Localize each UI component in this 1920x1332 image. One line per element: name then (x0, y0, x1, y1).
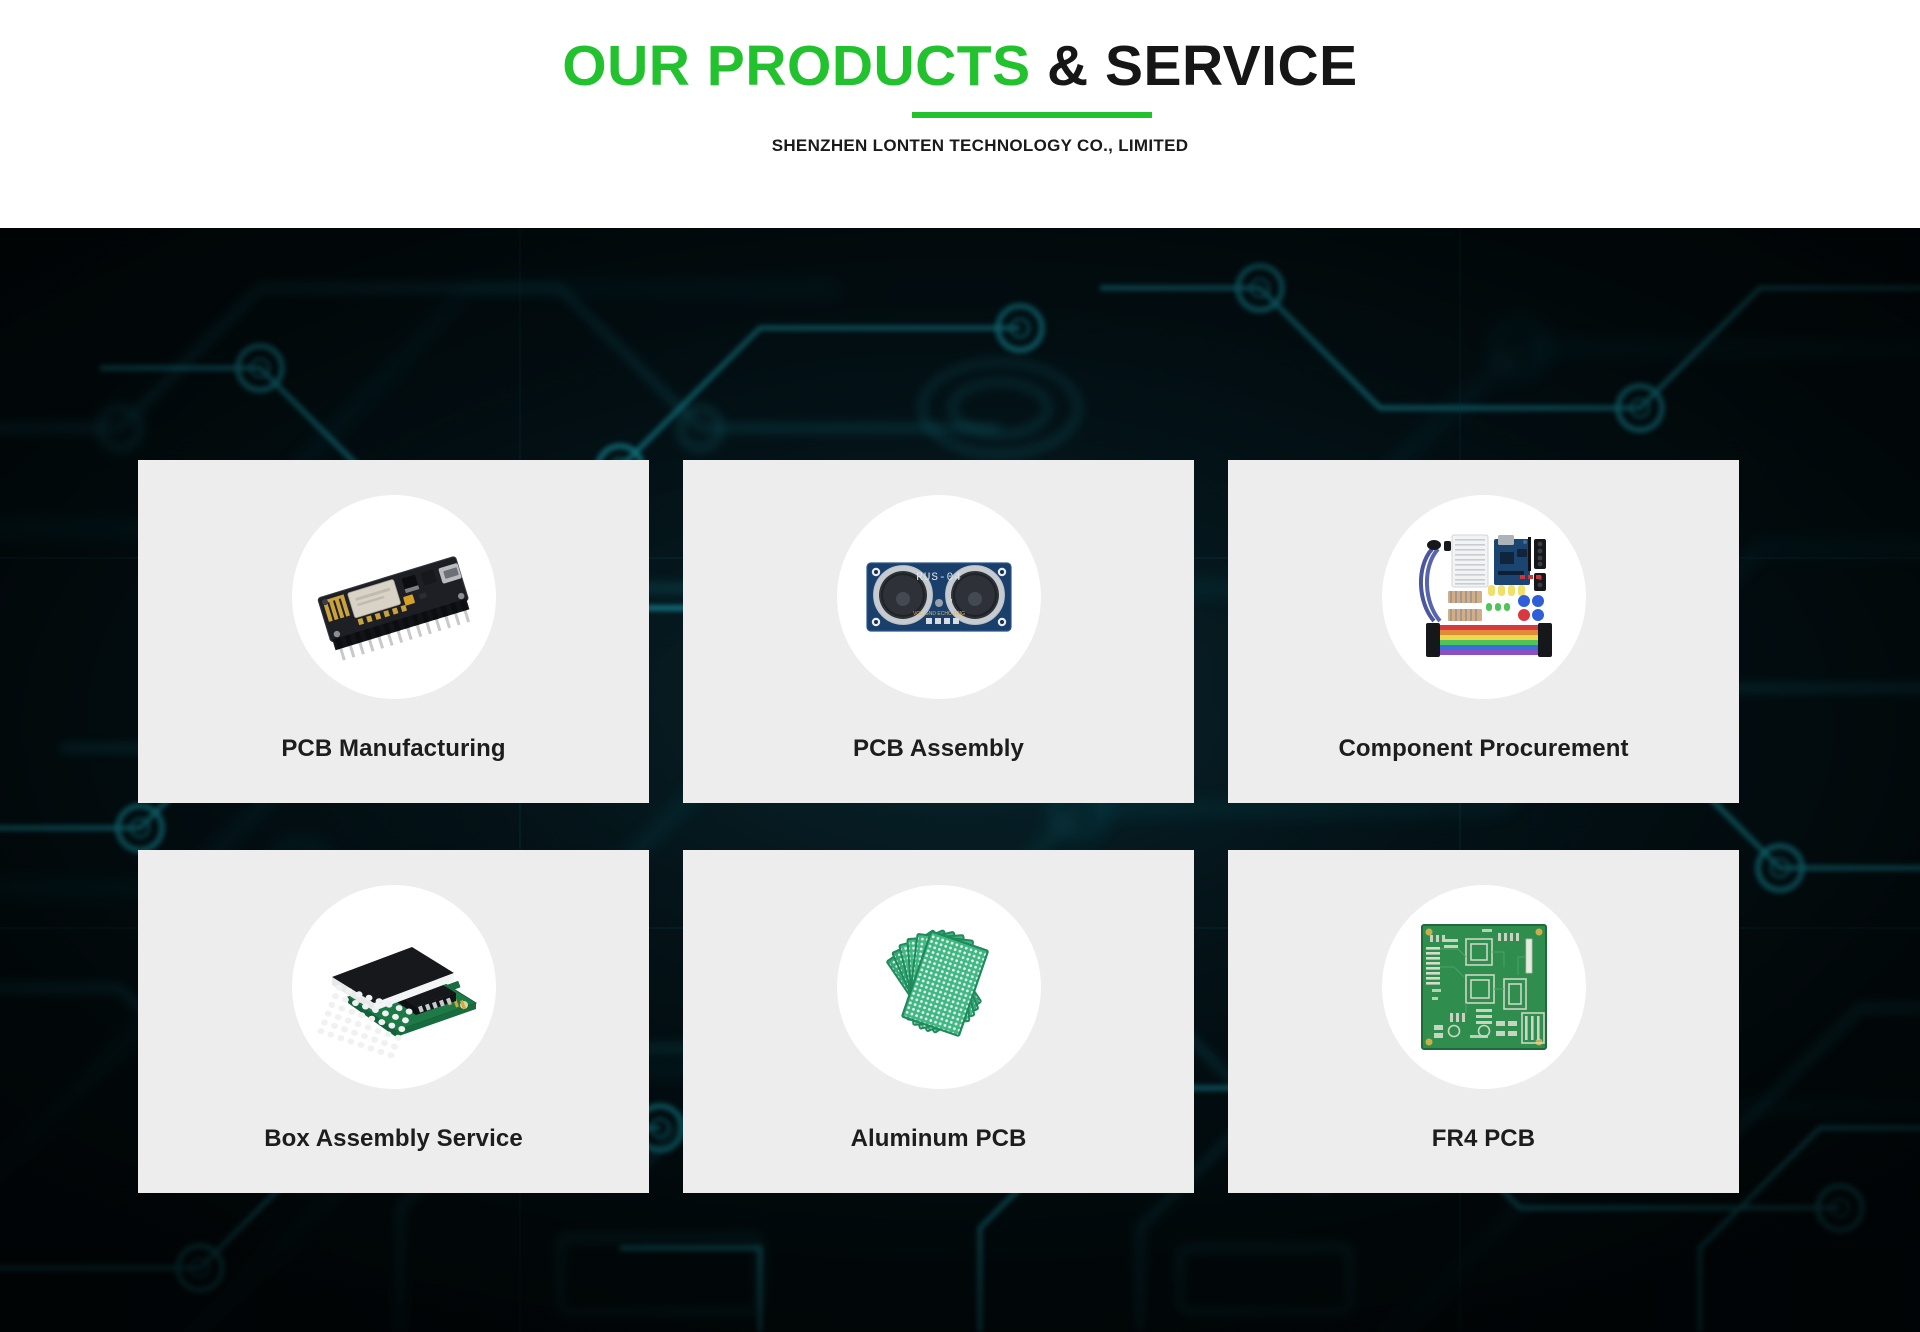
ultrasonic-sensor-module-icon: RUS-04 VCC GND ECHO TRIG (846, 504, 1032, 690)
product-card-title: Box Assembly Service (264, 1125, 523, 1153)
product-image-circle (292, 495, 496, 699)
title-underline-divider (912, 112, 1152, 118)
page-title: OUR PRODUCTS & SERVICE (562, 38, 1357, 95)
bare-fr4-pcb-icon (1389, 892, 1579, 1082)
product-card-grid: PCB Manufacturing (138, 460, 1738, 1193)
product-image-circle (1382, 495, 1586, 699)
product-image-circle (292, 885, 496, 1089)
svg-text:RUS-04: RUS-04 (916, 572, 962, 584)
page-title-accent: OUR PRODUCTS (562, 34, 1030, 98)
esp8266-nodemcu-board-icon (299, 502, 489, 692)
product-image-circle (1382, 885, 1586, 1089)
product-card-title: Component Procurement (1338, 735, 1628, 763)
svg-text:VCC GND ECHO TRIG: VCC GND ECHO TRIG (912, 611, 964, 617)
product-card-title: PCB Assembly (853, 735, 1024, 763)
page-title-rest: & SERVICE (1031, 34, 1358, 98)
perfboard-stack-icon (844, 892, 1034, 1082)
product-card-pcb-manufacturing[interactable]: PCB Manufacturing (138, 460, 649, 803)
product-image-circle (837, 885, 1041, 1089)
product-card-title: FR4 PCB (1432, 1125, 1535, 1153)
product-card-title: Aluminum PCB (851, 1125, 1027, 1153)
product-card-component-procurement[interactable]: Component Procurement (1228, 460, 1739, 803)
electronics-starter-kit-icon (1391, 504, 1577, 690)
company-subtitle: SHENZHEN LONTEN TECHNOLOGY CO., LIMITED (772, 136, 1189, 156)
product-card-fr4-pcb[interactable]: FR4 PCB (1228, 850, 1739, 1193)
hero-section: PCB Manufacturing (0, 228, 1920, 1332)
product-image-circle: RUS-04 VCC GND ECHO TRIG (837, 495, 1041, 699)
product-card-box-assembly-service[interactable]: Box Assembly Service (138, 850, 649, 1193)
product-card-title: PCB Manufacturing (281, 735, 505, 763)
product-card-aluminum-pcb[interactable]: Aluminum PCB (683, 850, 1194, 1193)
led-matrix-module-icon (299, 892, 489, 1082)
page-header: OUR PRODUCTS & SERVICE SHENZHEN LONTEN T… (0, 0, 1920, 228)
product-card-pcb-assembly[interactable]: RUS-04 VCC GND ECHO TRIG (683, 460, 1194, 803)
